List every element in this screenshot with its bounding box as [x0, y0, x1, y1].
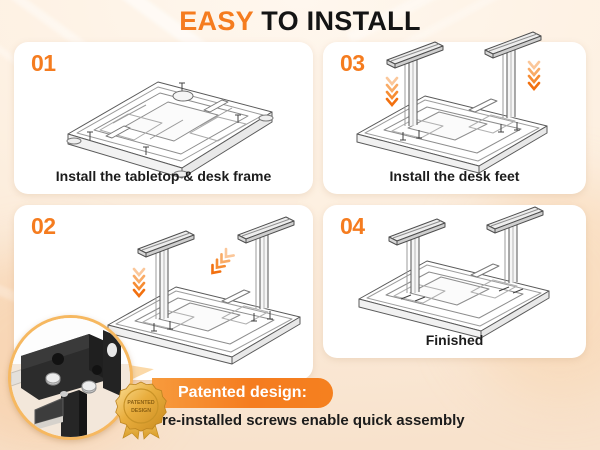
- step-04-illustration: [353, 211, 573, 331]
- step-02-illustration: [102, 207, 322, 357]
- step-card-03[interactable]: 03: [323, 42, 586, 194]
- step-number-03: 03: [340, 50, 365, 77]
- step-number-04: 04: [340, 213, 365, 240]
- step-card-04[interactable]: 04: [323, 205, 586, 358]
- badge-line2: DESIGN: [131, 408, 151, 414]
- step-caption-04: Finished: [323, 332, 586, 348]
- page-title-highlight: EASY: [179, 6, 253, 36]
- banner-label: Patented design:: [178, 384, 307, 402]
- patented-design-badge-icon: PATENTED DESIGN: [110, 378, 172, 440]
- step-number-01: 01: [31, 50, 56, 77]
- patented-design-banner: Patented design:: [152, 378, 333, 408]
- infographic-root: EASY TO INSTALL 01: [0, 0, 600, 450]
- banner-subtitle: Pre-installed screws enable quick assemb…: [152, 412, 465, 429]
- badge-line1: PATENTED: [127, 400, 154, 406]
- step-card-01[interactable]: 01: [14, 42, 313, 194]
- step-caption-01: Install the tabletop & desk frame: [14, 168, 313, 184]
- step-caption-03: Install the desk feet: [323, 168, 586, 184]
- step-03-illustration: [351, 30, 581, 170]
- step-01-illustration: [50, 60, 290, 180]
- step-number-02: 02: [31, 213, 56, 240]
